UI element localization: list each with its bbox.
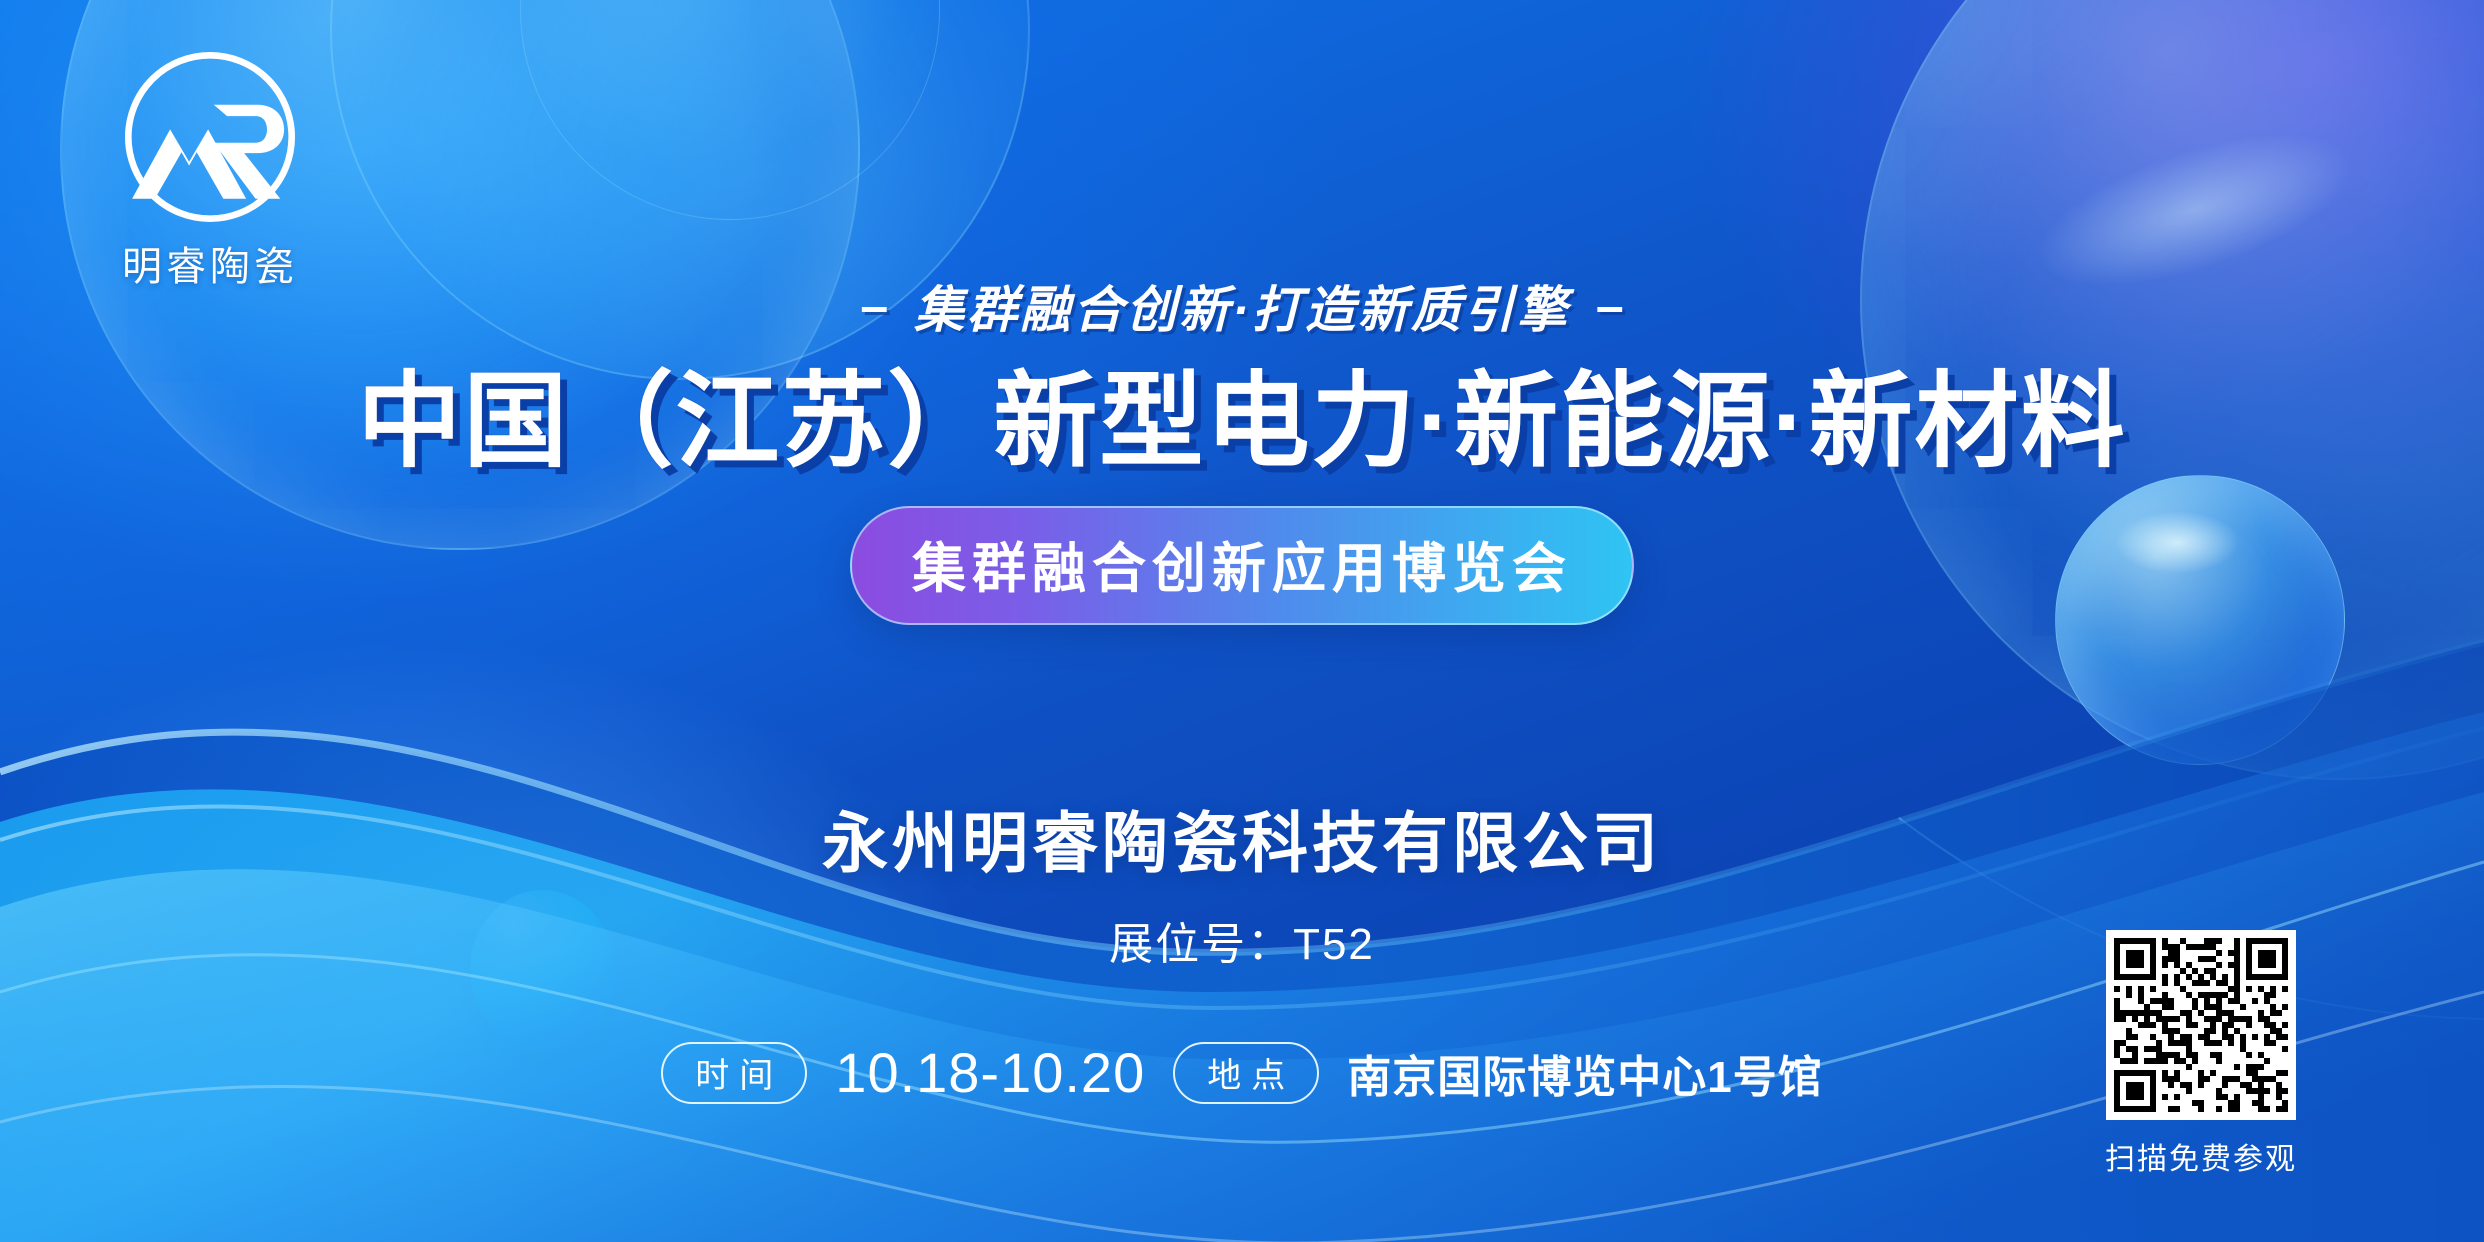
event-venue: 南京国际博览中心1号馆 xyxy=(1347,1041,1822,1105)
eyebrow-text: 集群融合创新·打造新质引擎 xyxy=(914,270,1570,342)
eyebrow-dash-left: – xyxy=(860,277,888,335)
time-tag: 时间 xyxy=(661,1042,807,1104)
headline-block: – 集群融合创新·打造新质引擎 – 中国（江苏）新型电力·新能源·新材料 集群融… xyxy=(0,270,2484,625)
mr-monogram-icon xyxy=(115,42,305,232)
qr-code-image xyxy=(2114,938,2288,1112)
event-title: 中国（江苏）新型电力·新能源·新材料 xyxy=(0,364,2484,480)
place-tag: 地点 xyxy=(1173,1042,1319,1104)
qr-code[interactable] xyxy=(2106,930,2296,1120)
event-poster: 明睿陶瓷 – 集群融合创新·打造新质引擎 – 中国（江苏）新型电力·新能源·新材… xyxy=(0,0,2484,1242)
bubble-top-left-small xyxy=(520,0,940,220)
eyebrow-dash-right: – xyxy=(1596,277,1624,335)
brand-logo: 明睿陶瓷 xyxy=(60,42,360,292)
qr-block: 扫描免费参观 xyxy=(2086,930,2316,1178)
company-name: 永州明睿陶瓷科技有限公司 xyxy=(0,790,2484,886)
event-dates: 10.18-10.20 xyxy=(835,1040,1145,1105)
badge-wrap: 集群融合创新应用博览会 xyxy=(0,506,2484,625)
eyebrow-line: – 集群融合创新·打造新质引擎 – xyxy=(860,270,1623,342)
qr-caption: 扫描免费参观 xyxy=(2086,1134,2316,1178)
expo-badge: 集群融合创新应用博览会 xyxy=(850,506,1634,625)
